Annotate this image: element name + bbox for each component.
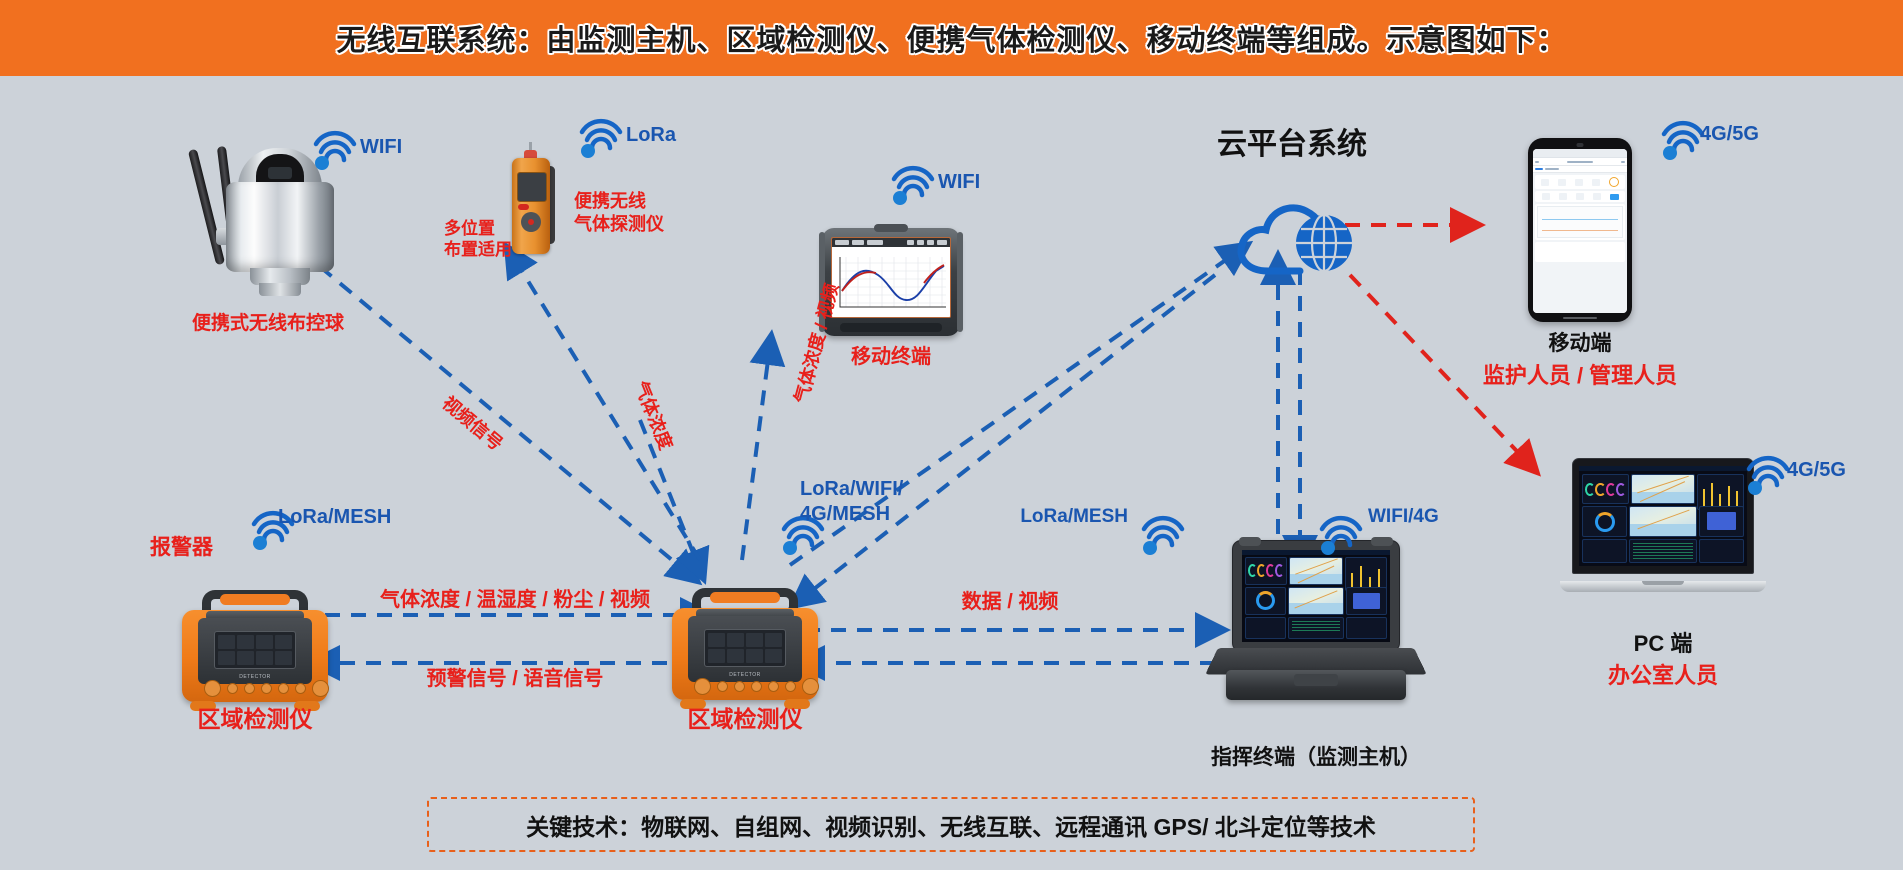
link-label-gas-conc-portable: 气体浓度 <box>629 378 677 453</box>
link-label-area-down: 预警信号 / 语音信号 <box>427 667 604 692</box>
wifi-icon-4g5g-laptop <box>1745 455 1791 495</box>
node-label-laptop: PC 端 <box>1634 630 1693 658</box>
wireless-tag-lora-portable: LoRa <box>626 123 676 148</box>
portable-note-label: 多位置 布置适用 <box>444 218 512 261</box>
key-technology-box: 关键技术：物联网、自组网、视频识别、无线互联、远程通讯 GPS/ 北斗定位等技术 <box>427 797 1475 852</box>
node-label-alarm: 报警器 <box>150 535 213 561</box>
rugged-tablet-icon <box>822 228 960 336</box>
wifi-icon-lora-portable <box>578 118 624 158</box>
rugged-command-laptop-icon <box>1218 540 1414 708</box>
wireless-tag-wifi-ptz: WIFI <box>360 135 402 160</box>
wifi-icon-wifi-4g-cmd <box>1318 515 1364 555</box>
link-label-gas-conc-video: 气体浓度 / 视频 <box>790 281 844 406</box>
link-label-data-video: 数据 / 视频 <box>962 590 1059 615</box>
wifi-icon-tablet <box>890 165 936 205</box>
node-label-area-center: 区域检测仪 <box>688 705 803 734</box>
smartphone-icon <box>1528 138 1632 322</box>
node-label-command: 指挥终端（监测主机） <box>1211 745 1421 771</box>
laptop-icon <box>1560 458 1766 592</box>
node-label-portable: 便携无线 气体探测仪 <box>574 190 664 235</box>
cloud-platform-icon <box>1228 175 1378 293</box>
wireless-tag-multi-area: LoRa/WIFI/ 4G/MESH <box>800 477 903 527</box>
link-label-area-up: 气体浓度 / 温湿度 / 粉尘 / 视频 <box>380 588 650 613</box>
wifi-icon-lora-mesh-cmd <box>1140 515 1186 555</box>
node-label-ptz: 便携式无线布控球 <box>192 312 344 336</box>
node-label-area-left: 区域检测仪 <box>198 705 313 734</box>
banner-title: 无线互联系统：由监测主机、区域检测仪、便携气体检测仪、移动终端等组成。示意图如下… <box>336 17 1566 59</box>
wireless-tag-lora-mesh-cmd: LoRa/MESH <box>1020 505 1128 529</box>
area-detector-icon-left: DETECTOR <box>180 590 330 706</box>
node-label-cloud: 云平台系统 <box>1217 126 1367 164</box>
portable-gas-detector-icon <box>510 150 556 256</box>
wireless-tag-4g5g-laptop: 4G/5G <box>1787 458 1846 483</box>
area-detector-icon-center: DETECTOR <box>670 588 820 704</box>
header-banner: 无线互联系统：由监测主机、区域检测仪、便携气体检测仪、移动终端等组成。示意图如下… <box>0 0 1903 76</box>
wireless-tag-wifi-4g-cmd: WIFI/4G <box>1368 505 1439 529</box>
key-technology-text: 关键技术：物联网、自组网、视频识别、无线互联、远程通讯 GPS/ 北斗定位等技术 <box>526 808 1376 842</box>
node-role-laptop: 办公室人员 <box>1608 662 1718 690</box>
wireless-tag-wifi-tablet: WIFI <box>938 170 980 195</box>
link-label-video-signal: 视频信号 <box>438 392 508 456</box>
node-label-phone: 移动端 <box>1549 331 1612 357</box>
node-role-phone: 监护人员 / 管理人员 <box>1483 362 1677 390</box>
wifi-icon-ptz <box>312 130 358 170</box>
node-label-tablet: 移动终端 <box>851 345 931 370</box>
wireless-tag-lora-mesh-alarm: LoRa/MESH <box>278 505 391 530</box>
diagram-canvas: 无线互联系统：由监测主机、区域检测仪、便携气体检测仪、移动终端等组成。示意图如下… <box>0 0 1903 870</box>
wireless-tag-4g5g-phone: 4G/5G <box>1700 122 1759 147</box>
